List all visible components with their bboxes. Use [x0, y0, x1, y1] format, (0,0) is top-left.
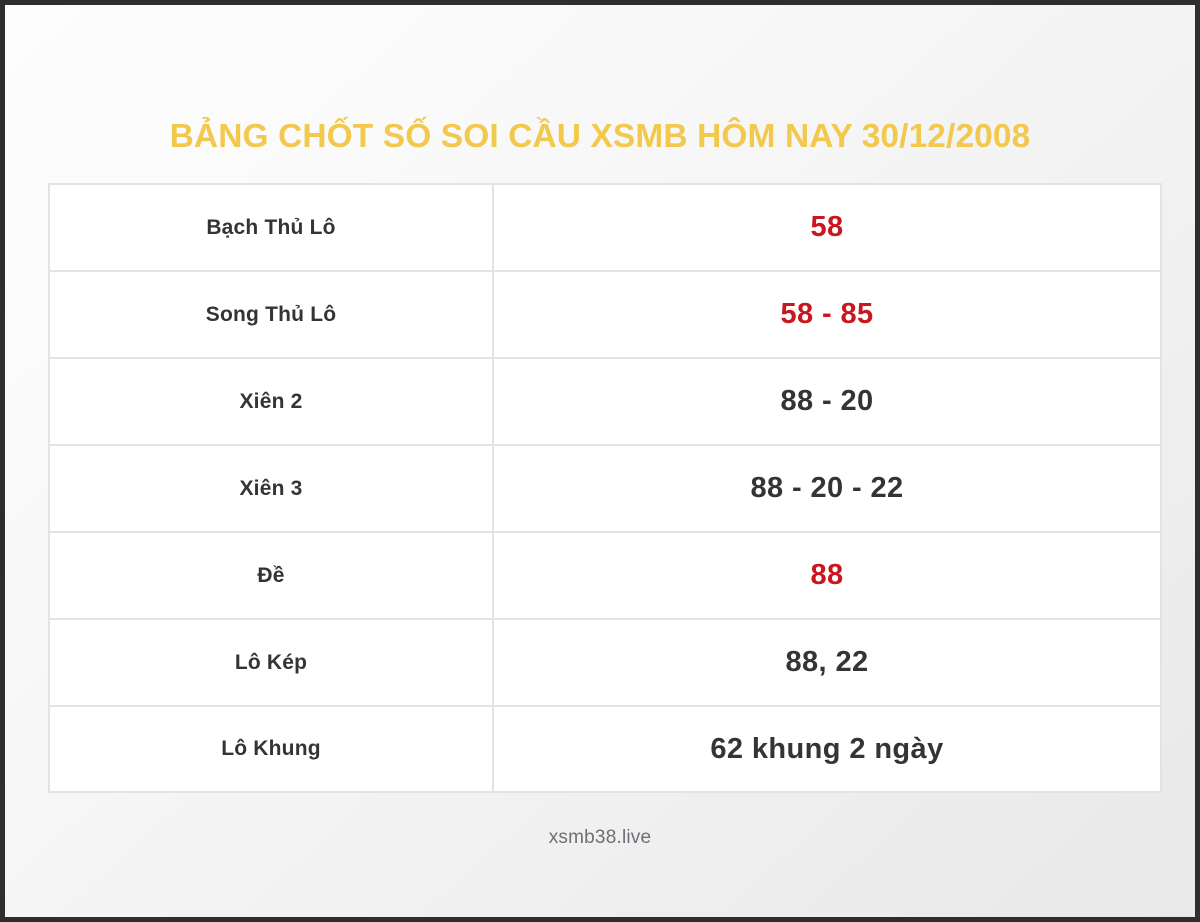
site-watermark: xsmb38.live	[549, 827, 652, 849]
row-label: Bạch Thủ Lô	[50, 185, 494, 270]
page-title: BẢNG CHỐT SỐ SOI CẦU XSMB HÔM NAY 30/12/…	[170, 119, 1031, 156]
table-row: Song Thủ Lô58 - 85	[48, 270, 1162, 357]
table-row: Xiên 288 - 20	[48, 357, 1162, 444]
row-value: 88 - 20	[494, 359, 1160, 444]
screenshot-frame: BẢNG CHỐT SỐ SOI CẦU XSMB HÔM NAY 30/12/…	[0, 0, 1200, 922]
footer: xsmb38.live	[5, 827, 1195, 849]
row-value: 58 - 85	[494, 272, 1160, 357]
row-label: Lô Khung	[50, 707, 494, 791]
prediction-table: Bạch Thủ Lô58Song Thủ Lô58 - 85Xiên 288 …	[48, 183, 1162, 793]
row-value: 62 khung 2 ngày	[494, 707, 1160, 791]
table-row: Đề88	[48, 531, 1162, 618]
table-row: Xiên 388 - 20 - 22	[48, 444, 1162, 531]
table-row: Lô Khung62 khung 2 ngày	[48, 705, 1162, 793]
row-label: Xiên 2	[50, 359, 494, 444]
row-label: Đề	[50, 533, 494, 618]
row-value: 88	[494, 533, 1160, 618]
page-background: BẢNG CHỐT SỐ SOI CẦU XSMB HÔM NAY 30/12/…	[5, 5, 1195, 917]
table-row: Bạch Thủ Lô58	[48, 183, 1162, 270]
row-label: Song Thủ Lô	[50, 272, 494, 357]
row-value: 88, 22	[494, 620, 1160, 705]
row-label: Xiên 3	[50, 446, 494, 531]
page-title-container: BẢNG CHỐT SỐ SOI CẦU XSMB HÔM NAY 30/12/…	[5, 97, 1195, 179]
table-row: Lô Kép88, 22	[48, 618, 1162, 705]
row-value: 58	[494, 185, 1160, 270]
row-value: 88 - 20 - 22	[494, 446, 1160, 531]
row-label: Lô Kép	[50, 620, 494, 705]
